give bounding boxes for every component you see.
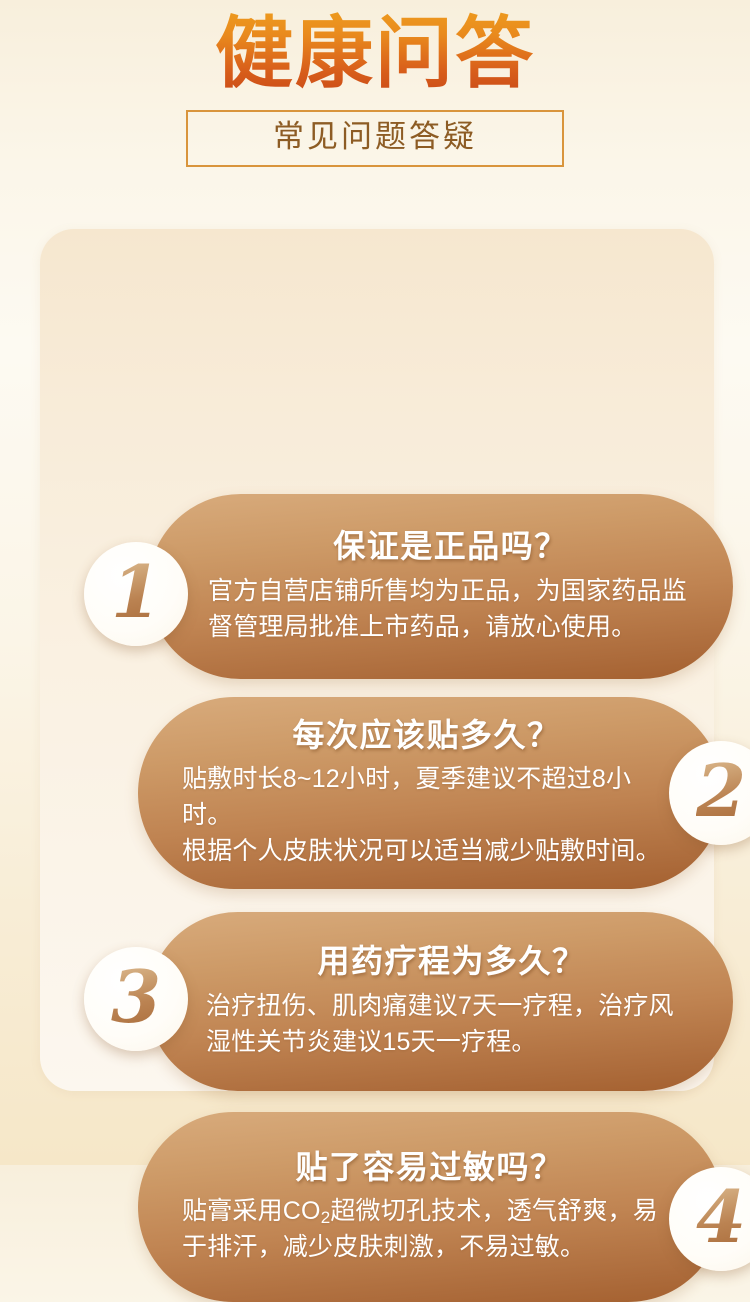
faq-card[interactable]: 每次应该贴多久？ 贴敷时长8~12小时，夏季建议不超过8小时。 根据个人皮肤状况… bbox=[138, 697, 723, 889]
faq-card-content: 每次应该贴多久？ 贴敷时长8~12小时，夏季建议不超过8小时。 根据个人皮肤状况… bbox=[138, 697, 723, 889]
faq-number: 2 bbox=[696, 755, 746, 827]
faq-card-content: 用药疗程为多久？ 治疗扭伤、肌肉痛建议7天一疗程，治疗风 湿性关节炎建议15天一… bbox=[148, 912, 733, 1091]
faq-question: 贴了容易过敏吗？ bbox=[188, 1149, 671, 1186]
faq-card-content: 保证是正品吗？ 官方自营店铺所售均为正品，为国家药品监 督管理局批准上市药品，请… bbox=[148, 494, 733, 679]
faq-number-badge: 1 bbox=[84, 542, 188, 646]
faq-card[interactable]: 用药疗程为多久？ 治疗扭伤、肌肉痛建议7天一疗程，治疗风 湿性关节炎建议15天一… bbox=[148, 912, 733, 1091]
faq-page: 健康问答 常见问题答疑 保证是正品吗？ 官方自营店铺所售均为正品，为国家药品监 … bbox=[0, 0, 750, 1165]
faq-number: 3 bbox=[111, 961, 161, 1033]
faq-answer-line: 督管理局批准上市药品，请放心使用。 bbox=[208, 609, 687, 645]
faq-question: 保证是正品吗？ bbox=[214, 528, 687, 565]
faq-question: 用药疗程为多久？ bbox=[216, 943, 687, 980]
faq-number: 4 bbox=[696, 1181, 746, 1253]
page-header: 健康问答 常见问题答疑 bbox=[0, 0, 750, 167]
faq-answer: 贴敷时长8~12小时，夏季建议不超过8小时。 根据个人皮肤状况可以适当减少贴敷时… bbox=[182, 761, 671, 869]
page-title: 健康问答 bbox=[0, 0, 750, 92]
faq-answer-line: 贴敷时长8~12小时，夏季建议不超过8小时。 bbox=[182, 761, 671, 833]
faq-answer-line: 官方自营店铺所售均为正品，为国家药品监 bbox=[208, 573, 687, 609]
faq-card[interactable]: 贴了容易过敏吗？ 贴膏采用CO2超微切孔技术，透气舒爽，易于排汗，减少皮肤刺激，… bbox=[138, 1112, 723, 1302]
faq-answer: 治疗扭伤、肌肉痛建议7天一疗程，治疗风 湿性关节炎建议15天一疗程。 bbox=[206, 988, 687, 1060]
faq-answer-line: 治疗扭伤、肌肉痛建议7天一疗程，治疗风 bbox=[206, 988, 687, 1024]
faq-answer: 贴膏采用CO2超微切孔技术，透气舒爽，易于排汗，减少皮肤刺激，不易过敏。 bbox=[182, 1193, 671, 1265]
faq-card-content: 贴了容易过敏吗？ 贴膏采用CO2超微切孔技术，透气舒爽，易于排汗，减少皮肤刺激，… bbox=[138, 1112, 723, 1302]
faq-panel: 保证是正品吗？ 官方自营店铺所售均为正品，为国家药品监 督管理局批准上市药品，请… bbox=[40, 229, 714, 1091]
faq-question: 每次应该贴多久？ bbox=[182, 717, 671, 754]
faq-answer: 官方自营店铺所售均为正品，为国家药品监 督管理局批准上市药品，请放心使用。 bbox=[208, 573, 687, 645]
faq-answer-line: 根据个人皮肤状况可以适当减少贴敷时间。 bbox=[182, 833, 671, 869]
faq-card[interactable]: 保证是正品吗？ 官方自营店铺所售均为正品，为国家药品监 督管理局批准上市药品，请… bbox=[148, 494, 733, 679]
subtitle-text: 常见问题答疑 bbox=[224, 119, 526, 155]
subtitle-box: 常见问题答疑 bbox=[186, 110, 564, 167]
faq-number-badge: 3 bbox=[84, 947, 188, 1051]
faq-answer-line: 湿性关节炎建议15天一疗程。 bbox=[206, 1024, 687, 1060]
faq-number: 1 bbox=[111, 556, 161, 628]
